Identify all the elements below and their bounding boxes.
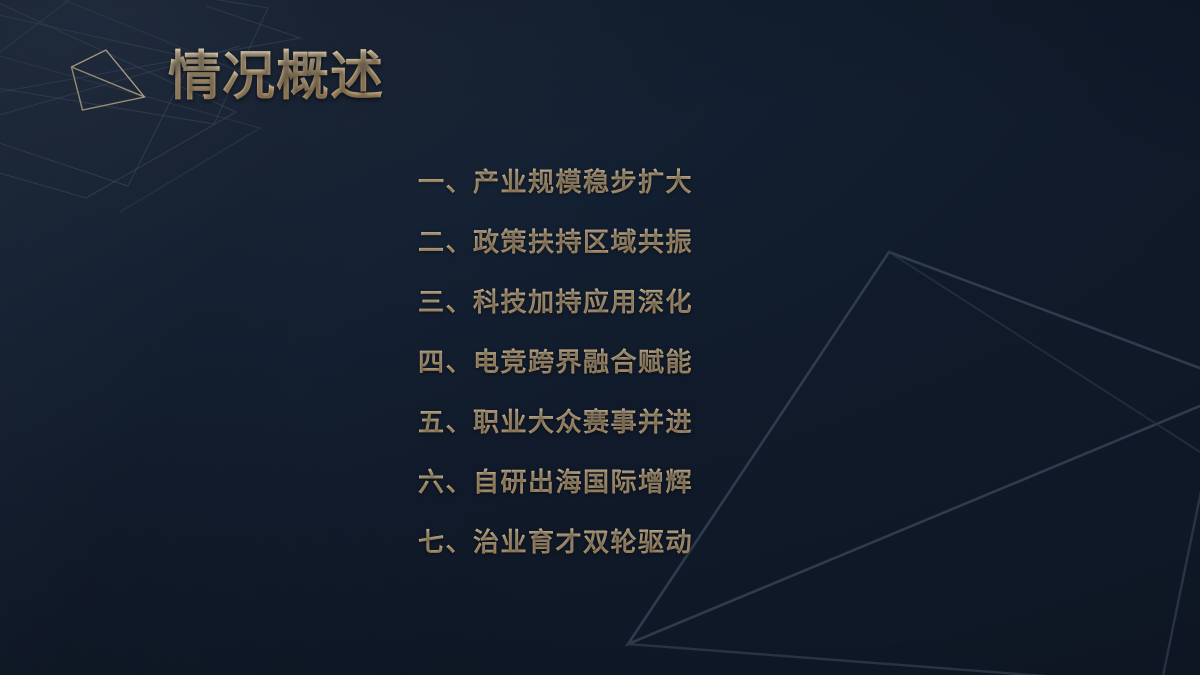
agenda-item-1[interactable]: 一、产业规模稳步扩大: [418, 152, 758, 212]
agenda-item-3[interactable]: 三、科技加持应用深化: [418, 272, 758, 332]
agenda-item-2[interactable]: 二、政策扶持区域共振: [418, 212, 758, 272]
agenda-item-7[interactable]: 七、治业育才双轮驱动: [418, 512, 758, 572]
agenda-item-5[interactable]: 五、职业大众赛事并进: [418, 392, 758, 452]
page-title: 情况概述 情况概述: [168, 46, 384, 109]
agenda-item-6[interactable]: 六、自研出海国际增辉: [418, 452, 758, 512]
agenda-list: 一、产业规模稳步扩大 二、政策扶持区域共振 三、科技加持应用深化 四、电竞跨界融…: [418, 152, 758, 572]
page-title-text: 情况概述: [168, 46, 384, 109]
agenda-item-4[interactable]: 四、电竞跨界融合赋能: [418, 332, 758, 392]
presentation-slide: 情况概述 情况概述 一、产业规模稳步扩大 二、政策扶持区域共振 三、科技加持应用…: [0, 0, 1200, 675]
